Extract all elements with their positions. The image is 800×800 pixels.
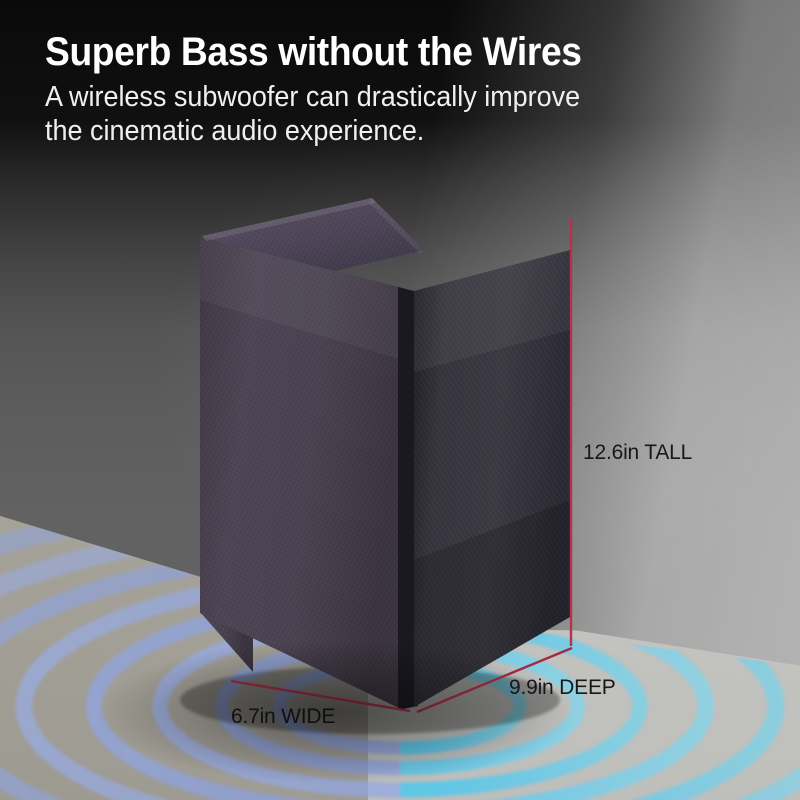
subheadline: A wireless subwoofer can drastically imp… — [45, 81, 659, 149]
subheadline-line-2: the cinematic audio experience. — [45, 115, 659, 149]
headline: Superb Bass without the Wires — [45, 30, 659, 75]
dimension-label-depth: 9.9in DEEP — [509, 676, 616, 700]
subheadline-line-1: A wireless subwoofer can drastically imp… — [45, 81, 659, 115]
dimension-label-width: 6.7in WIDE — [231, 705, 335, 729]
dimension-label-height: 12.6in TALL — [583, 441, 692, 465]
banner-text-block: Superb Bass without the Wires A wireless… — [45, 30, 705, 149]
product-marketing-image: Superb Bass without the Wires A wireless… — [0, 0, 800, 800]
